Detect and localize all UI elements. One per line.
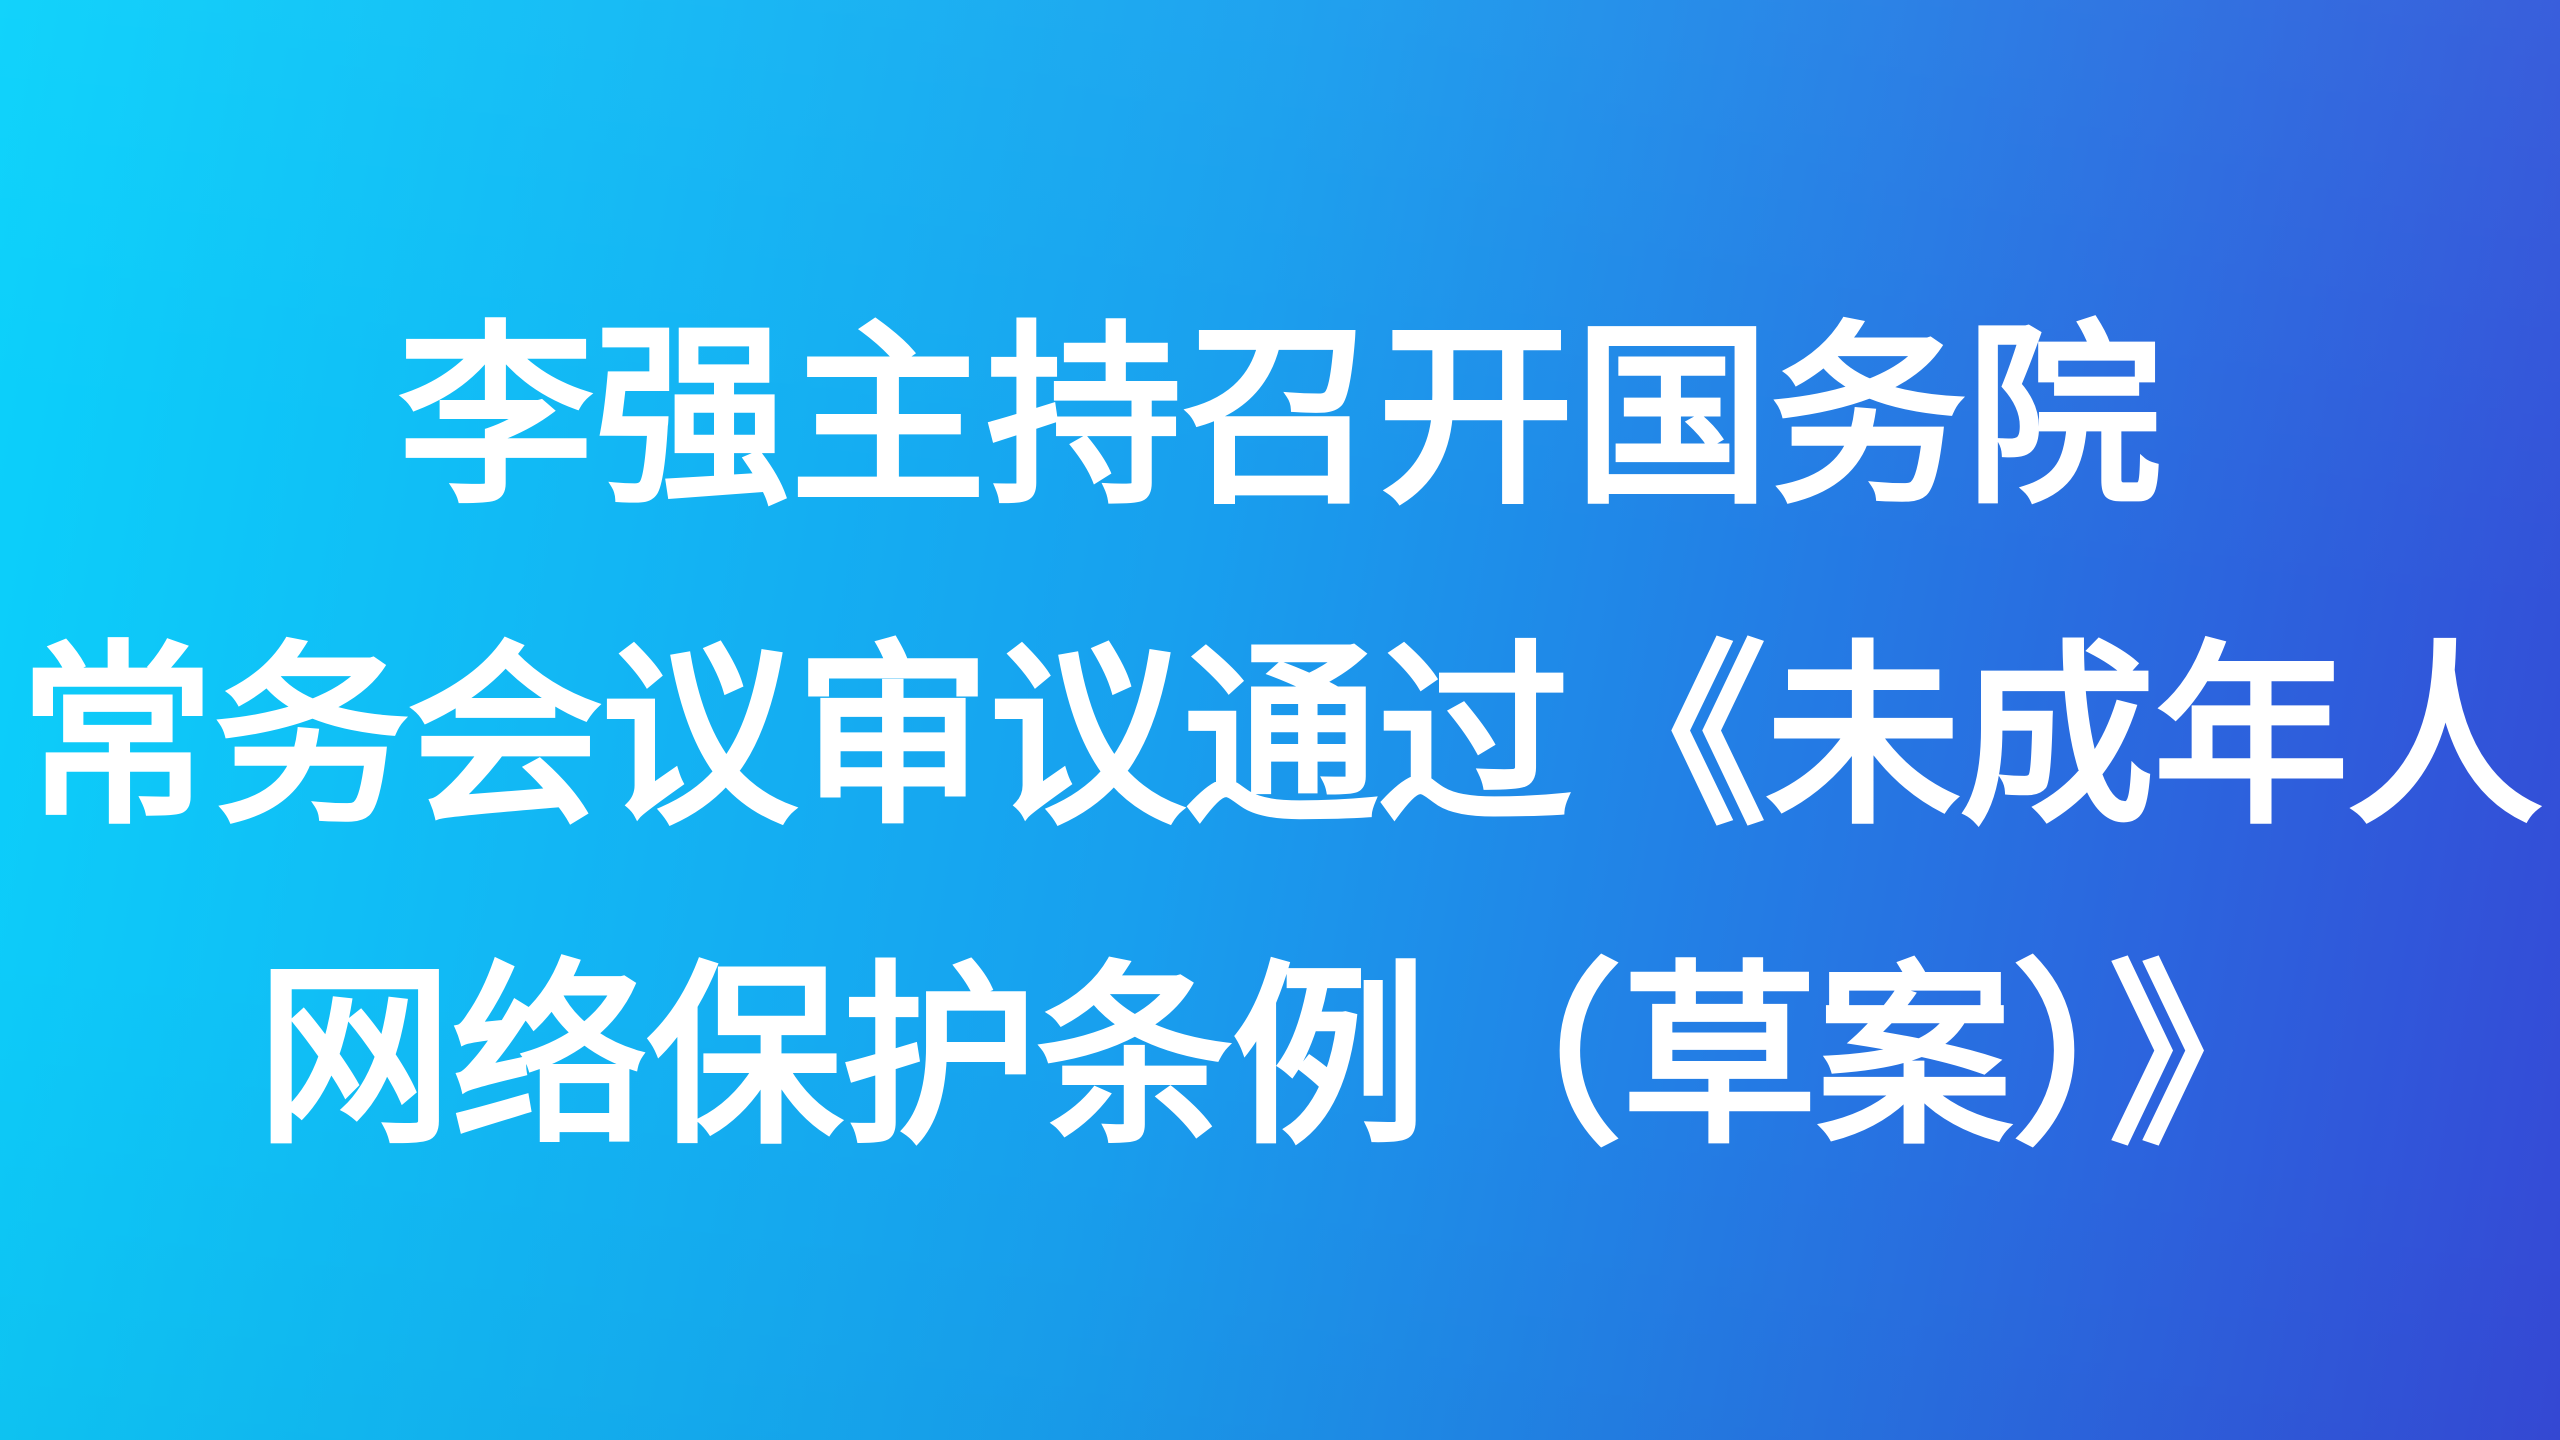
headline-block: 李强主持召开国务院 常务会议审议通过《未成年人 网络保护条例（草案）》 xyxy=(0,258,2560,1218)
headline-line-2: 常务会议审议通过《未成年人 xyxy=(19,578,2541,898)
news-headline-banner: 李强主持召开国务院 常务会议审议通过《未成年人 网络保护条例（草案）》 xyxy=(0,0,2560,1440)
headline-line-1: 李强主持召开国务院 xyxy=(398,258,2162,578)
headline-line-3: 网络保护条例（草案）》 xyxy=(256,898,2303,1218)
